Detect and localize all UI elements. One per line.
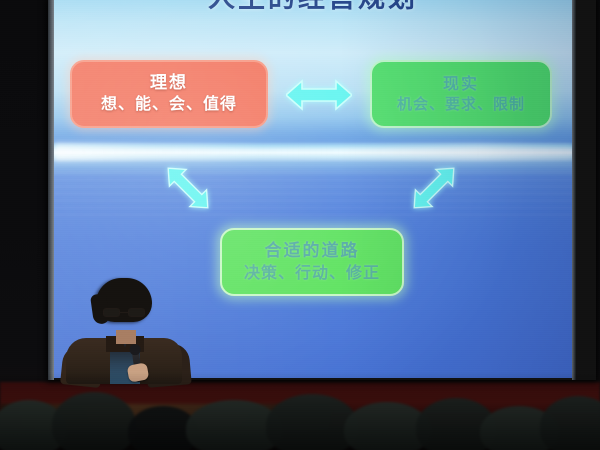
photo-scene: 人生的经营规划 理想 想、能、会、值得 现实 机会、要求、限制 合适的道路 决策… (0, 0, 600, 450)
double-arrow-diagonal-nesw-icon (406, 160, 462, 220)
slide-box-reality-subtitle: 机会、要求、限制 (397, 96, 525, 113)
slide-box-path-title: 合适的道路 (265, 242, 360, 261)
slide-box-reality: 现实 机会、要求、限制 (370, 60, 552, 128)
double-arrow-diagonal-nwse-icon (160, 160, 216, 220)
presenter (62, 278, 194, 382)
eyeglass-bridge (120, 312, 128, 313)
presenter-neck (116, 330, 136, 344)
slide-box-reality-title: 现实 (443, 75, 479, 93)
slide-box-path-subtitle: 决策、行动、修正 (244, 264, 380, 282)
audience-silhouettes (0, 386, 600, 450)
eyeglass-lens-left (103, 308, 120, 317)
slide-box-ideal: 理想 想、能、会、值得 (70, 60, 268, 128)
slide-box-ideal-title: 理想 (150, 74, 188, 93)
eyeglass-lens-right (128, 308, 145, 317)
eyeglasses-icon (103, 308, 147, 317)
double-arrow-horizontal-icon (286, 78, 352, 116)
screen-bezel-right (572, 0, 576, 380)
audience-head (52, 392, 136, 450)
slide-box-path: 合适的道路 决策、行动、修正 (220, 228, 404, 296)
slide-box-ideal-subtitle: 想、能、会、值得 (101, 95, 237, 113)
audience-head (540, 396, 600, 450)
